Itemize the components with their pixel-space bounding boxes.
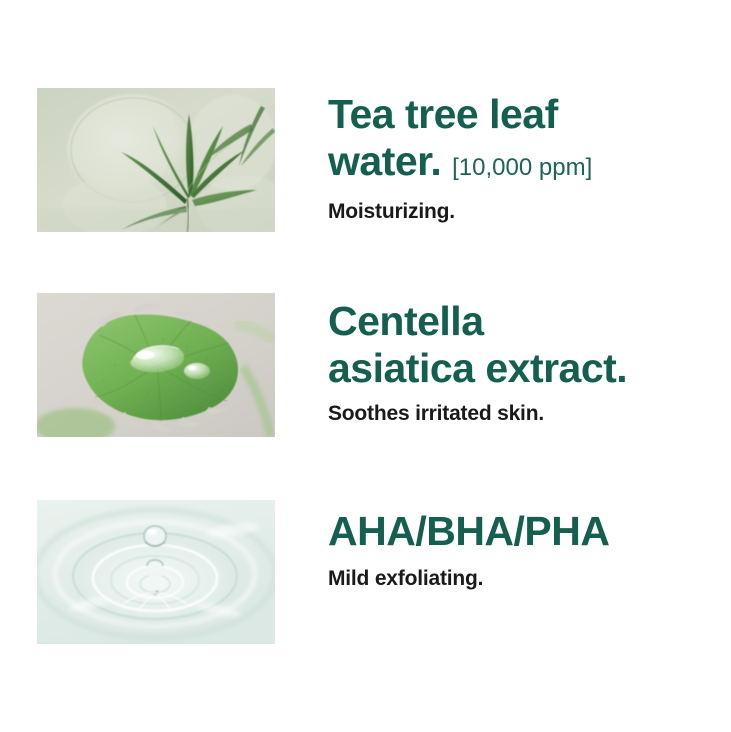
headline-line-2: asiatica extract. <box>328 345 627 391</box>
tea-tree-leaf-photo <box>37 88 275 232</box>
feature-headline-centella: Centella asiatica extract. <box>328 298 728 392</box>
feature-subtitle-acids: Mild exfoliating. <box>328 567 723 591</box>
feature-headline-acids: AHA/BHA/PHA <box>328 508 723 555</box>
headline-line-1: Centella <box>328 298 484 344</box>
feature-copy-centella: Centella asiatica extract. Soothes irrit… <box>328 293 728 426</box>
headline-line-2: water. <box>328 138 441 184</box>
water-droplet-ripple-photo <box>37 500 275 644</box>
headline-note-ppm: [10,000 ppm] <box>452 154 592 181</box>
feature-subtitle-tea-tree: Moisturizing. <box>328 200 723 224</box>
feature-headline-tea-tree: Tea tree leaf water. [10,000 ppm] <box>328 91 723 191</box>
feature-subtitle-centella: Soothes irritated skin. <box>328 402 728 426</box>
headline-line-1: AHA/BHA/PHA <box>328 508 610 554</box>
headline-line-1: Tea tree leaf <box>328 91 558 137</box>
ingredient-highlights-page: Tea tree leaf water. [10,000 ppm] Moistu… <box>0 0 731 732</box>
feature-copy-tea-tree: Tea tree leaf water. [10,000 ppm] Moistu… <box>328 88 723 224</box>
feature-copy-acids: AHA/BHA/PHA Mild exfoliating. <box>328 500 723 591</box>
centella-leaf-photo <box>37 293 275 437</box>
